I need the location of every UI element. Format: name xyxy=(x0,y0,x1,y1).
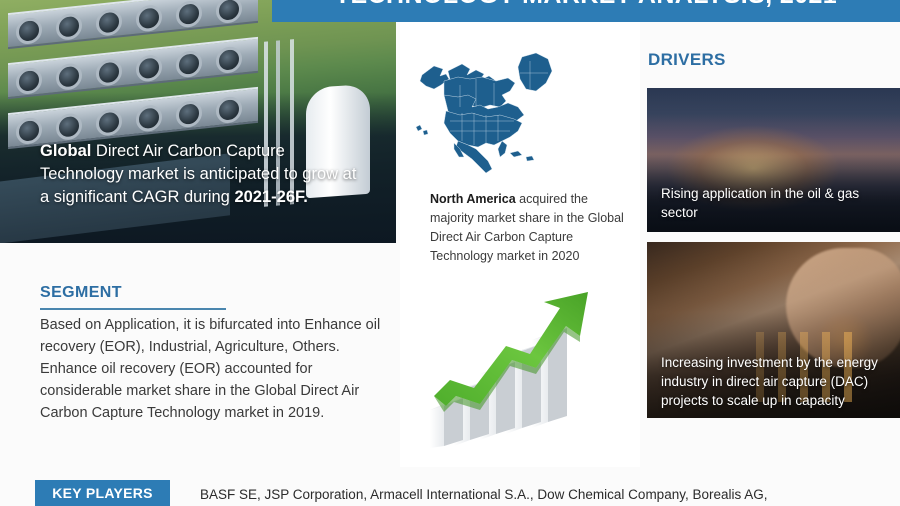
key-players-label: KEY PLAYERS xyxy=(35,480,170,506)
region-statement: North America acquired the majority mark… xyxy=(430,190,635,266)
region-highlight: North America xyxy=(430,192,516,206)
driver-caption: Increasing investment by the energy indu… xyxy=(661,353,890,410)
hero-image-panel: Global Direct Air Carbon Capture Technol… xyxy=(0,0,396,243)
hero-statement: Global Direct Air Carbon Capture Technol… xyxy=(40,140,370,209)
segment-divider xyxy=(40,308,226,310)
segment-heading: SEGMENT xyxy=(40,284,122,302)
segment-body-text: Based on Application, it is bifurcated i… xyxy=(40,314,392,424)
growth-arrow-bar-chart xyxy=(428,288,618,448)
north-america-map xyxy=(410,45,625,185)
drivers-heading: DRIVERS xyxy=(648,50,726,70)
page-title: TECHNOLOGY MARKET ANALYSIS, 2021 xyxy=(272,0,900,10)
driver-card-2: Increasing investment by the energy indu… xyxy=(647,242,900,418)
driver-caption: Rising application in the oil & gas sect… xyxy=(661,184,890,222)
driver-card-1: Rising application in the oil & gas sect… xyxy=(647,88,900,232)
header-banner: TECHNOLOGY MARKET ANALYSIS, 2021 xyxy=(272,0,900,22)
key-players-list: BASF SE, JSP Corporation, Armacell Inter… xyxy=(200,485,890,504)
key-players-badge: KEY PLAYERS xyxy=(35,480,170,506)
hero-period: 2021-26F. xyxy=(234,188,307,206)
hero-highlight: Global xyxy=(40,142,91,160)
